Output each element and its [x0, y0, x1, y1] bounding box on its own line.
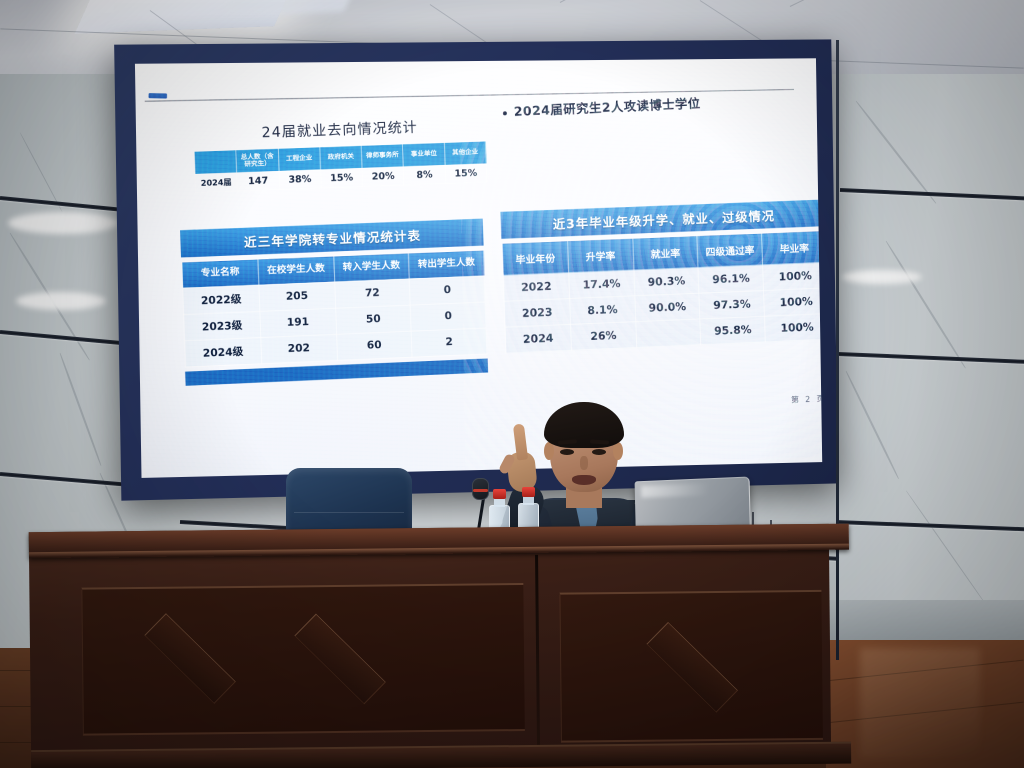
cell-grad: 100%: [763, 262, 822, 290]
cell-employ: 90.0%: [635, 293, 701, 322]
podium-panel: [81, 583, 525, 736]
bottle-cap: [522, 487, 535, 497]
cell-grade: 2022级: [183, 285, 260, 314]
col-cet4-pass-rate: 四级通过率: [697, 233, 763, 267]
ceiling-light-glow: [222, 0, 362, 16]
person-eye-left: [560, 449, 574, 455]
cell-study: 17.4%: [569, 270, 635, 299]
podium-diamond-motif: [144, 613, 236, 704]
cell-grade: 2024级: [185, 338, 262, 367]
cell-out: 2: [411, 328, 487, 357]
col-publicinst: 事业单位: [403, 142, 445, 166]
laptop-sheen: [641, 483, 709, 497]
cell-engineering: 38%: [279, 170, 321, 190]
transfer-table: 专业名称 在校学生人数 转入学生人数 转出学生人数 2022级 205 72: [181, 250, 487, 368]
col-lawfirm: 律师事务所: [361, 144, 403, 168]
cell-government: 15%: [320, 168, 362, 188]
podium-diamond-motif: [294, 614, 386, 705]
cell-study: 8.1%: [569, 296, 635, 325]
col-government: 政府机关: [320, 145, 362, 169]
graduation-block: 近3年毕业年级升学、就业、过级情况 毕业年份 升学率 就业率 四级通过率 毕业率: [500, 199, 822, 353]
cell-year: 2023: [504, 299, 570, 328]
person-hair: [544, 402, 624, 448]
microphone-indicator: [473, 489, 488, 492]
cell-year: 2024: [505, 324, 571, 353]
slide-corner-mark: [149, 93, 167, 98]
transfer-block: 近三年学院转专业情况统计表 专业名称 在校学生人数 转入学生人数 转出学生人数: [180, 219, 487, 368]
employment-title: 24届就业去向情况统计: [193, 114, 486, 144]
col-blank: [194, 150, 237, 174]
bullet-dot-icon: [503, 111, 507, 115]
col-employment-rate: 就业率: [632, 236, 698, 270]
cell-year: 2024届: [195, 173, 238, 193]
employment-table: 总人数（含研究生） 工程企业 政府机关 律师事务所 事业单位 其他企业 2024…: [194, 140, 488, 192]
floor-reflection: [860, 648, 980, 758]
cell-enrolled: 205: [259, 282, 336, 311]
col-engineering: 工程企业: [278, 147, 321, 171]
cell-total: 147: [237, 171, 280, 191]
cell-employ: [635, 319, 701, 348]
col-major-name: 专业名称: [182, 259, 259, 288]
cell-employ: 90.3%: [634, 267, 700, 295]
col-total: 总人数（含研究生）: [236, 148, 279, 172]
person-nose: [580, 456, 588, 470]
cell-year: 2022: [503, 273, 569, 302]
cell-cet4: 97.3%: [699, 290, 764, 318]
cell-publicinst: 8%: [404, 165, 446, 185]
employment-block: 24届就业去向情况统计 总人数（含研究生） 工程企业 政府机关 律师事务所 事业…: [193, 114, 488, 192]
cell-in: 50: [335, 305, 411, 334]
conference-room-scene: 24届就业去向情况统计 总人数（含研究生） 工程企业 政府机关 律师事务所 事业…: [0, 0, 1024, 768]
chair-seam: [294, 512, 404, 513]
cell-grad: 100%: [764, 288, 823, 316]
cell-out: 0: [409, 276, 485, 305]
person-eye-right: [592, 449, 606, 455]
cell-in: 60: [336, 331, 412, 360]
cell-cet4: 96.1%: [698, 265, 763, 293]
podium-desk: [29, 524, 831, 768]
projector-screen[interactable]: 24届就业去向情况统计 总人数（含研究生） 工程企业 政府机关 律师事务所 事业…: [114, 39, 838, 500]
cell-cet4: 95.8%: [700, 316, 765, 345]
cell-enrolled: 191: [260, 308, 337, 337]
graduation-table: 毕业年份 升学率 就业率 四级通过率 毕业率 2022 17.4%: [502, 230, 823, 354]
col-enrolled: 在校学生人数: [258, 256, 335, 285]
col-grad-year: 毕业年份: [502, 241, 569, 276]
podium-seam: [535, 555, 540, 765]
podium-panel: [559, 590, 823, 743]
col-transfer-out: 转出学生人数: [409, 250, 485, 279]
col-transfer-in: 转入学生人数: [333, 253, 409, 282]
podium-base: [31, 742, 851, 768]
col-further-study-rate: 升学率: [567, 238, 633, 272]
cell-study: 26%: [570, 322, 636, 351]
bottle-cap: [493, 489, 506, 499]
cell-grad: 100%: [765, 313, 823, 341]
podium-diamond-motif: [646, 622, 738, 713]
cell-grade: 2023级: [184, 311, 261, 340]
presentation-slide: 24届就业去向情况统计 总人数（含研究生） 工程企业 政府机关 律师事务所 事业…: [135, 58, 822, 478]
wall-corner-edge: [836, 40, 839, 660]
screen-surface: 24届就业去向情况统计 总人数（含研究生） 工程企业 政府机关 律师事务所 事业…: [135, 58, 822, 478]
cell-lawfirm: 20%: [362, 167, 404, 187]
cell-out: 0: [410, 302, 486, 331]
col-graduation-rate: 毕业率: [762, 231, 823, 265]
cell-enrolled: 202: [261, 334, 338, 363]
slide-pager: 第 2 页: [791, 393, 822, 405]
person-mouth: [572, 475, 596, 485]
col-other: 其他企业: [444, 141, 486, 165]
cell-in: 72: [334, 279, 410, 308]
cell-other: 15%: [445, 164, 487, 184]
bullet-note-text: 2024届研究生2人攻读博士学位: [513, 96, 700, 119]
